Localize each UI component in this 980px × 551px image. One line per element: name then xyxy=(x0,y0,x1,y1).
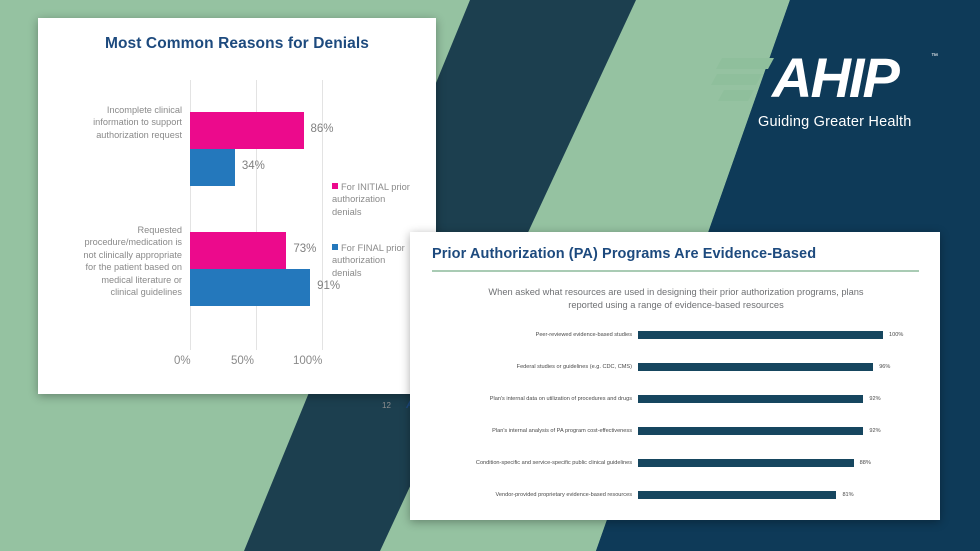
denials-category-label-2: Requested procedure/medication is not cl… xyxy=(78,224,182,298)
pa-row-1: Peer-reviewed evidence-based studies 100… xyxy=(410,328,940,342)
slide-card-denials[interactable]: Most Common Reasons for Denials Incomple… xyxy=(38,18,436,394)
denials-legend-label-final: For FINAL prior authorization denials xyxy=(332,243,405,278)
pa-row-3: Plan's internal data on utilization of p… xyxy=(410,392,940,406)
pa-row-label-3: Plan's internal data on utilization of p… xyxy=(424,392,632,406)
denials-value-initial-1: 86% xyxy=(311,123,334,135)
denials-bar-initial-1 xyxy=(190,112,304,149)
denials-value-final-2: 91% xyxy=(317,280,340,292)
pa-title-divider xyxy=(432,270,919,272)
legend-swatch-initial-icon xyxy=(332,183,338,189)
pa-row-5: Condition-specific and service-specific … xyxy=(410,456,940,470)
denials-legend-item-initial[interactable]: For INITIAL prior authorization denials xyxy=(332,181,412,218)
ahip-dash-marks-icon xyxy=(710,56,774,106)
pa-row-value-4: 92% xyxy=(869,424,880,438)
pa-row-value-1: 100% xyxy=(889,328,903,342)
legend-swatch-final-icon xyxy=(332,244,338,250)
ahip-trademark: ™ xyxy=(931,53,938,60)
denials-value-final-1: 34% xyxy=(242,160,265,172)
denials-tick-0: 0% xyxy=(174,355,191,367)
denials-legend-item-final[interactable]: For FINAL prior authorization denials xyxy=(332,242,412,279)
pa-row-4: Plan's internal analysis of PA program c… xyxy=(410,424,940,438)
pa-row-label-2: Federal studies or guidelines (e.g. CDC,… xyxy=(424,360,632,374)
denials-chart-title: Most Common Reasons for Denials xyxy=(38,35,436,53)
pa-row-label-6: Vendor-provided proprietary evidence-bas… xyxy=(424,488,632,502)
denials-gridline-100 xyxy=(322,80,323,350)
pa-row-value-3: 92% xyxy=(869,392,880,406)
ahip-logo: AHIP ™ Guiding Greater Health xyxy=(710,48,950,140)
pa-row-label-1: Peer-reviewed evidence-based studies xyxy=(424,328,632,342)
denials-tick-50: 50% xyxy=(231,355,254,367)
pa-row-bar-1 xyxy=(638,331,883,339)
pa-row-bar-4 xyxy=(638,427,863,435)
pa-row-bar-3 xyxy=(638,395,863,403)
slide-collage: AHIP ™ Guiding Greater Health Most Commo… xyxy=(0,0,980,551)
pa-row-value-5: 88% xyxy=(860,456,871,470)
denials-category-label-1: Incomplete clinical information to suppo… xyxy=(78,104,182,141)
pa-row-value-6: 81% xyxy=(842,488,853,502)
pa-row-bar-2 xyxy=(638,363,873,371)
denials-bar-final-2 xyxy=(190,269,310,306)
pa-row-value-2: 96% xyxy=(879,360,890,374)
pa-row-label-5: Condition-specific and service-specific … xyxy=(424,456,632,470)
denials-plot-area: 86% 34% 73% 91% xyxy=(190,80,345,350)
denials-value-initial-2: 73% xyxy=(293,243,316,255)
pa-chart-title: Prior Authorization (PA) Programs Are Ev… xyxy=(432,246,816,262)
pa-row-2: Federal studies or guidelines (e.g. CDC,… xyxy=(410,360,940,374)
pa-row-bar-5 xyxy=(638,459,854,467)
denials-bar-final-1 xyxy=(190,149,235,186)
pa-subtitle: When asked what resources are used in de… xyxy=(480,286,872,312)
pa-row-6: Vendor-provided proprietary evidence-bas… xyxy=(410,488,940,502)
denials-page-number: 12 xyxy=(382,401,391,410)
ahip-wordmark: AHIP xyxy=(772,48,898,108)
slide-card-pa-programs[interactable]: Prior Authorization (PA) Programs Are Ev… xyxy=(410,232,940,520)
ahip-tagline: Guiding Greater Health xyxy=(758,114,912,130)
pa-row-label-4: Plan's internal analysis of PA program c… xyxy=(424,424,632,438)
denials-legend-label-initial: For INITIAL prior authorization denials xyxy=(332,182,410,217)
denials-bar-initial-2 xyxy=(190,232,286,269)
denials-tick-100: 100% xyxy=(293,355,322,367)
pa-row-bar-6 xyxy=(638,491,836,499)
